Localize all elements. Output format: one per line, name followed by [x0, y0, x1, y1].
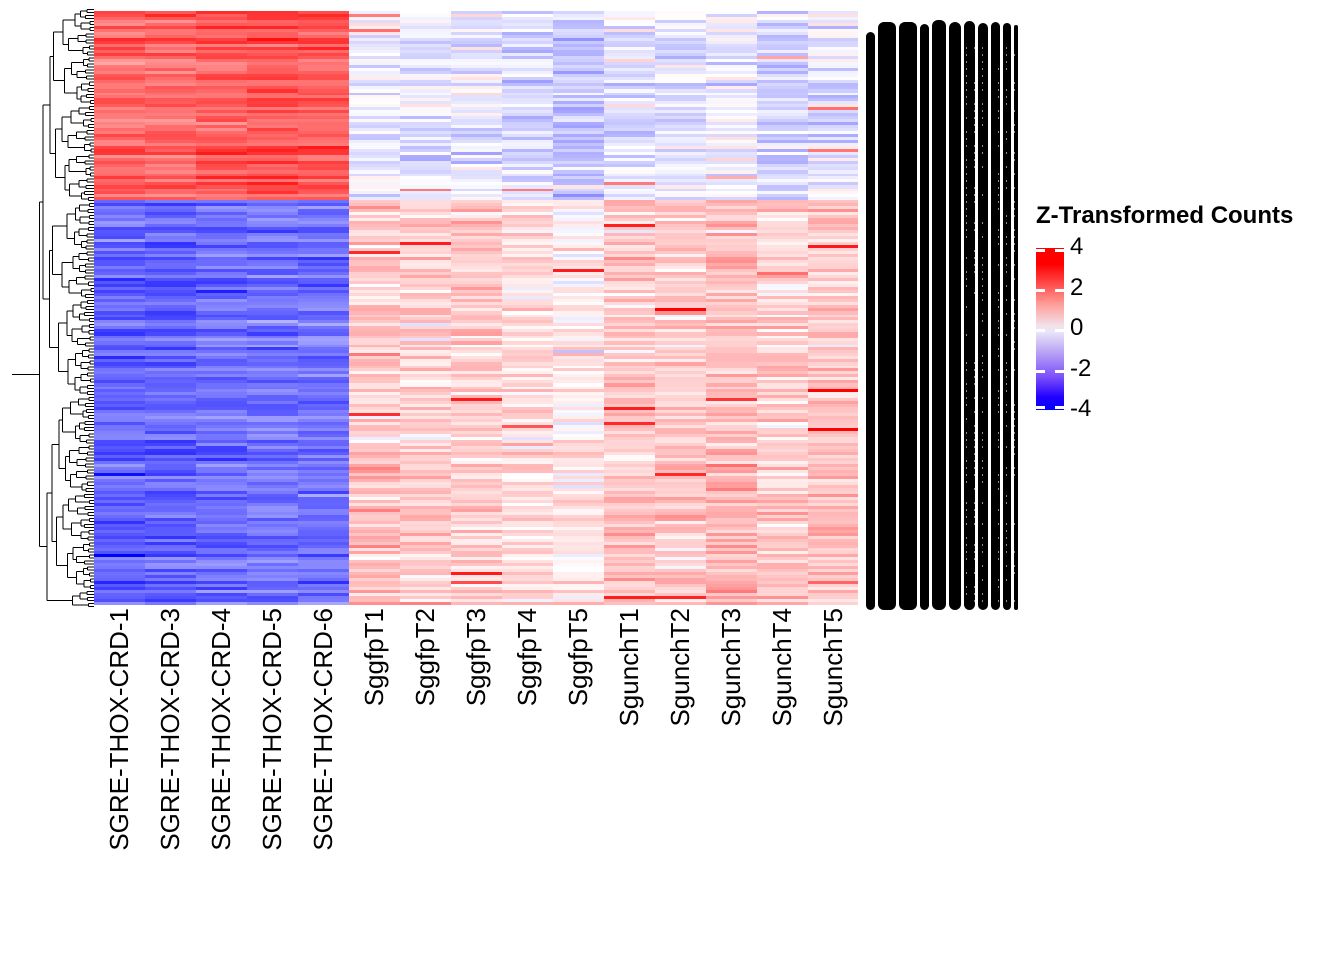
row-label-gap: [998, 306, 999, 308]
row-label-gap: [974, 600, 975, 602]
row-label-gap: [982, 89, 983, 91]
row-label-gap: [974, 460, 975, 462]
row-label-gap: [966, 285, 967, 287]
column-label-5: SggfpT1: [361, 608, 387, 706]
row-label-gap: [998, 68, 999, 70]
row-label-gap: [1014, 446, 1015, 448]
row-label-gap: [1014, 299, 1015, 301]
row-label-gap: [1014, 250, 1015, 252]
row-label-gap: [1014, 467, 1015, 469]
row-label-gap: [982, 397, 983, 399]
row-label-gap: [974, 509, 975, 511]
row-label-gap: [974, 124, 975, 126]
row-label-gap: [998, 180, 999, 182]
row-label-gap: [990, 271, 991, 273]
colorbar-tick-mark: [1036, 370, 1045, 373]
row-label-gap: [1006, 425, 1007, 427]
colorbar-tick-mark: [1036, 329, 1045, 332]
row-label-gap: [990, 222, 991, 224]
row-label-gap: [1014, 551, 1015, 553]
row-label-gap: [982, 362, 983, 364]
row-label-gap: [966, 96, 967, 98]
row-label-gap: [974, 194, 975, 196]
row-label-gap: [966, 180, 967, 182]
row-label-gap: [990, 397, 991, 399]
row-label-gap: [990, 89, 991, 91]
row-label-gap: [966, 439, 967, 441]
row-label-gap: [990, 460, 991, 462]
row-label-gap: [1014, 313, 1015, 315]
row-label-gap: [1014, 208, 1015, 210]
row-label-gap: [998, 145, 999, 147]
row-label-band-3: [920, 24, 929, 610]
row-label-gap: [982, 481, 983, 483]
row-label-band-2: [899, 22, 917, 610]
column-label-0: SGRE-THOX-CRD-1: [106, 608, 132, 851]
row-label-gap: [998, 201, 999, 203]
row-label-gap: [974, 222, 975, 224]
row-label-gap: [998, 348, 999, 350]
row-label-gap: [1006, 68, 1007, 70]
row-label-gap: [998, 194, 999, 196]
row-label-gap: [982, 593, 983, 595]
row-label-gap: [998, 82, 999, 84]
row-label-gap: [998, 327, 999, 329]
legend: Z-Transformed Counts 420-2-4: [1030, 202, 1330, 417]
row-label-gap: [998, 404, 999, 406]
row-label-gap: [966, 516, 967, 518]
row-label-gap: [998, 355, 999, 357]
column-label-1: SGRE-THOX-CRD-3: [157, 608, 183, 851]
row-label-gap: [974, 257, 975, 259]
row-label-gap: [1006, 222, 1007, 224]
row-label-gap: [1014, 320, 1015, 322]
row-label-gap: [966, 257, 967, 259]
row-label-gap: [998, 551, 999, 553]
row-label-gap: [982, 579, 983, 581]
row-label-gap: [966, 460, 967, 462]
row-label-gap: [974, 558, 975, 560]
row-label-gap: [982, 502, 983, 504]
row-label-gap: [982, 257, 983, 259]
row-label-gap: [974, 369, 975, 371]
row-label-gap: [998, 187, 999, 189]
colorbar-tick-mark: [1036, 406, 1045, 409]
row-label-gap: [974, 432, 975, 434]
row-label-gap: [974, 47, 975, 49]
row-label-gap: [974, 166, 975, 168]
row-label-gap: [974, 159, 975, 161]
row-label-gap: [966, 551, 967, 553]
row-label-gap: [990, 257, 991, 259]
row-label-gap: [974, 411, 975, 413]
row-label-gap: [990, 54, 991, 56]
row-label-gap: [966, 537, 967, 539]
row-label-gap: [982, 82, 983, 84]
row-label-gap: [966, 117, 967, 119]
row-label-gap: [990, 173, 991, 175]
row-label-gap: [974, 152, 975, 154]
row-label-gap: [990, 432, 991, 434]
row-label-gap: [998, 264, 999, 266]
column-label-12: SgunchT3: [718, 608, 744, 727]
colorbar-tick-mark: [1036, 289, 1045, 292]
row-label-gap: [1014, 425, 1015, 427]
row-label-gap: [1006, 551, 1007, 553]
row-label-gap: [1014, 432, 1015, 434]
row-label-gap: [1006, 103, 1007, 105]
row-label-gap: [1014, 278, 1015, 280]
row-label-gap: [982, 68, 983, 70]
row-label-gap: [1014, 131, 1015, 133]
row-label-gap: [966, 586, 967, 588]
row-label-gap: [982, 47, 983, 49]
column-label-8: SggfpT4: [514, 608, 540, 706]
row-label-gap: [1014, 404, 1015, 406]
row-label-gap: [1014, 201, 1015, 203]
row-label-gap: [982, 299, 983, 301]
row-label-gap: [974, 362, 975, 364]
row-label-gap: [990, 40, 991, 42]
row-label-gap: [974, 201, 975, 203]
row-label-gap: [974, 544, 975, 546]
row-label-gap: [1014, 369, 1015, 371]
colorbar-tick-label-2: 0: [1070, 316, 1083, 340]
row-label-gap: [966, 593, 967, 595]
row-label-gap: [998, 481, 999, 483]
row-label-gap: [998, 558, 999, 560]
row-label-gap: [1014, 243, 1015, 245]
colorbar-tick-mark: [1055, 406, 1064, 409]
row-label-gap: [982, 117, 983, 119]
row-label-gap: [990, 180, 991, 182]
row-label-gap: [974, 551, 975, 553]
row-label-gap: [990, 285, 991, 287]
row-label-gap: [1014, 236, 1015, 238]
row-label-band-5: [949, 22, 961, 610]
row-label-gap: [1006, 264, 1007, 266]
row-label-gap: [974, 117, 975, 119]
row-label-gap: [982, 355, 983, 357]
row-label-gap: [990, 68, 991, 70]
row-label-gap: [990, 446, 991, 448]
row-label-gap: [998, 173, 999, 175]
row-label-gap: [998, 523, 999, 525]
row-label-gap: [966, 201, 967, 203]
row-label-gap: [966, 166, 967, 168]
row-label-gap: [1006, 446, 1007, 448]
row-label-gap: [1014, 523, 1015, 525]
row-label-gap: [998, 411, 999, 413]
row-label-gap: [990, 390, 991, 392]
row-label-gap: [990, 61, 991, 63]
row-label-gap: [966, 236, 967, 238]
row-label-gap: [974, 250, 975, 252]
column-label-2: SGRE-THOX-CRD-4: [208, 608, 234, 851]
row-label-gap: [990, 250, 991, 252]
heatmap-body: [94, 11, 858, 605]
column-label-13: SgunchT4: [769, 608, 795, 727]
row-label-gap: [1006, 236, 1007, 238]
colorbar-tick-label-1: 2: [1070, 276, 1083, 300]
row-label-gap: [974, 376, 975, 378]
colorbar-tick-mark: [1036, 249, 1045, 252]
row-label-gap: [1014, 159, 1015, 161]
row-label-gap: [1006, 96, 1007, 98]
row-label-gap: [990, 320, 991, 322]
row-label-gap: [974, 502, 975, 504]
row-label-gap: [998, 334, 999, 336]
row-label-gap: [974, 145, 975, 147]
row-label-gap: [990, 544, 991, 546]
row-label-gap: [1014, 215, 1015, 217]
row-label-gap: [966, 390, 967, 392]
row-label-gap: [1006, 313, 1007, 315]
column-label-10: SgunchT1: [616, 608, 642, 727]
row-label-gap: [1006, 243, 1007, 245]
row-label-gap: [1014, 418, 1015, 420]
row-label-gap: [974, 187, 975, 189]
column-label-7: SggfpT3: [463, 608, 489, 706]
row-label-gap: [1014, 54, 1015, 56]
row-label-gap: [966, 446, 967, 448]
row-label-gap: [990, 488, 991, 490]
row-label-gap: [1006, 257, 1007, 259]
row-label-gap: [1006, 474, 1007, 476]
row-label-gap: [1014, 110, 1015, 112]
row-label-gap: [1006, 187, 1007, 189]
row-label-gap: [1006, 565, 1007, 567]
row-label-gap: [1014, 600, 1015, 602]
row-label-gap: [1006, 138, 1007, 140]
row-label-gap: [1014, 89, 1015, 91]
colorbar-tick-mark: [1055, 249, 1064, 252]
legend-title: Z-Transformed Counts: [1036, 202, 1293, 230]
row-label-gap: [998, 208, 999, 210]
row-label-gap: [982, 369, 983, 371]
row-label-gap: [966, 334, 967, 336]
heatmap-canvas: [94, 11, 858, 605]
row-label-gap: [990, 243, 991, 245]
row-label-gap: [998, 96, 999, 98]
row-label-gap: [966, 229, 967, 231]
row-label-band-6: [964, 21, 975, 610]
row-label-gap: [998, 369, 999, 371]
row-label-gap: [990, 558, 991, 560]
row-label-gap: [966, 467, 967, 469]
row-label-gap: [982, 194, 983, 196]
row-label-gap: [990, 75, 991, 77]
row-label-gap: [998, 474, 999, 476]
row-label-gap: [998, 131, 999, 133]
row-label-gap: [966, 474, 967, 476]
colorbar-tick-mark: [1055, 329, 1064, 332]
row-label-gap: [998, 110, 999, 112]
row-label-gap: [974, 292, 975, 294]
row-label-gap: [990, 82, 991, 84]
row-label-gap: [998, 117, 999, 119]
row-label-gap: [1006, 285, 1007, 287]
row-label-gap: [982, 166, 983, 168]
row-label-gap: [1006, 495, 1007, 497]
row-label-gap: [1006, 579, 1007, 581]
row-label-gap: [966, 502, 967, 504]
row-label-gap: [1014, 439, 1015, 441]
row-label-band-9: [1003, 23, 1011, 610]
row-label-block: [866, 10, 1018, 610]
row-label-gap: [982, 313, 983, 315]
row-label-gap: [966, 173, 967, 175]
row-label-gap: [982, 334, 983, 336]
row-label-gap: [966, 131, 967, 133]
row-label-gap: [1006, 299, 1007, 301]
row-label-gap: [1006, 271, 1007, 273]
row-label-gap: [1014, 348, 1015, 350]
row-label-gap: [982, 145, 983, 147]
row-label-gap: [982, 467, 983, 469]
row-label-gap: [966, 54, 967, 56]
row-label-gap: [966, 187, 967, 189]
row-label-gap: [1006, 369, 1007, 371]
row-label-gap: [966, 558, 967, 560]
row-label-gap: [966, 523, 967, 525]
row-label-gap: [966, 68, 967, 70]
row-label-gap: [982, 446, 983, 448]
row-label-gap: [990, 264, 991, 266]
row-label-gap: [998, 586, 999, 588]
row-label-gap: [974, 446, 975, 448]
row-label-gap: [966, 103, 967, 105]
column-label-11: SgunchT2: [667, 608, 693, 727]
row-label-gap: [982, 292, 983, 294]
row-label-gap: [982, 278, 983, 280]
row-label-gap: [974, 439, 975, 441]
row-label-gap: [1006, 383, 1007, 385]
row-label-gap: [974, 516, 975, 518]
row-label-gap: [998, 600, 999, 602]
row-label-gap: [1006, 362, 1007, 364]
row-label-band-1: [878, 22, 896, 610]
row-label-gap: [990, 110, 991, 112]
row-label-gap: [966, 208, 967, 210]
row-label-gap: [974, 425, 975, 427]
row-label-gap: [990, 383, 991, 385]
row-label-gap: [982, 474, 983, 476]
row-label-gap: [1006, 411, 1007, 413]
row-label-gap: [1006, 215, 1007, 217]
row-label-gap: [982, 600, 983, 602]
row-label-gap: [974, 453, 975, 455]
row-label-gap: [974, 474, 975, 476]
row-label-gap: [982, 523, 983, 525]
row-label-gap: [998, 488, 999, 490]
row-label-gap: [1006, 376, 1007, 378]
row-label-gap: [990, 348, 991, 350]
row-label-gap: [1006, 537, 1007, 539]
row-label-gap: [966, 572, 967, 574]
row-label-gap: [990, 509, 991, 511]
row-label-gap: [1006, 530, 1007, 532]
row-label-gap: [982, 61, 983, 63]
row-label-gap: [966, 61, 967, 63]
row-label-gap: [982, 537, 983, 539]
row-label-gap: [998, 439, 999, 441]
row-label-gap: [1014, 453, 1015, 455]
row-label-gap: [966, 271, 967, 273]
row-label-gap: [974, 89, 975, 91]
row-label-gap: [990, 474, 991, 476]
row-label-gap: [982, 54, 983, 56]
row-label-gap: [990, 502, 991, 504]
row-label-gap: [1014, 82, 1015, 84]
row-label-gap: [1014, 411, 1015, 413]
row-dendrogram: [6, 8, 94, 608]
row-label-gap: [966, 47, 967, 49]
row-label-gap: [1014, 173, 1015, 175]
column-label-4: SGRE-THOX-CRD-6: [310, 608, 336, 851]
column-labels: SGRE-THOX-CRD-1SGRE-THOX-CRD-3SGRE-THOX-…: [94, 608, 858, 948]
row-label-gap: [1014, 124, 1015, 126]
row-labels-svg: [866, 10, 1018, 610]
row-label-gap: [982, 320, 983, 322]
row-label-gap: [1014, 327, 1015, 329]
colorbar-tick-mark: [1055, 370, 1064, 373]
row-label-gap: [990, 565, 991, 567]
row-label-gap: [982, 271, 983, 273]
row-label-gap: [982, 264, 983, 266]
row-label-gap: [998, 509, 999, 511]
column-label-9: SggfpT5: [565, 608, 591, 706]
row-label-gap: [1006, 47, 1007, 49]
row-label-gap: [974, 467, 975, 469]
row-label-gap: [998, 397, 999, 399]
row-label-gap: [990, 523, 991, 525]
row-label-gap: [982, 152, 983, 154]
row-label-gap: [966, 509, 967, 511]
row-label-gap: [982, 222, 983, 224]
row-label-gap: [966, 404, 967, 406]
row-label-gap: [982, 103, 983, 105]
dendrogram-svg: [6, 8, 94, 608]
row-label-gap: [974, 82, 975, 84]
row-label-gap: [1014, 264, 1015, 266]
row-label-gap: [966, 138, 967, 140]
row-label-gap: [990, 516, 991, 518]
row-label-gap: [982, 376, 983, 378]
row-label-gap: [966, 75, 967, 77]
colorbar-tick-label-4: -4: [1070, 397, 1091, 421]
row-label-gap: [1006, 467, 1007, 469]
row-label-gap: [990, 215, 991, 217]
row-label-gap: [998, 537, 999, 539]
row-label-gap: [966, 278, 967, 280]
row-label-gap: [998, 579, 999, 581]
row-label-gap: [966, 369, 967, 371]
row-label-gap: [982, 439, 983, 441]
row-label-gap: [1006, 166, 1007, 168]
row-label-gap: [982, 110, 983, 112]
row-label-gap: [966, 397, 967, 399]
row-label-gap: [966, 362, 967, 364]
row-label-gap: [974, 488, 975, 490]
heatmap-figure: SGRE-THOX-CRD-1SGRE-THOX-CRD-3SGRE-THOX-…: [0, 0, 1344, 960]
row-label-gap: [1014, 565, 1015, 567]
row-label-gap: [966, 159, 967, 161]
row-label-band-10: [1014, 25, 1018, 610]
row-label-gap: [974, 523, 975, 525]
row-label-gap: [990, 96, 991, 98]
row-label-gap: [974, 586, 975, 588]
